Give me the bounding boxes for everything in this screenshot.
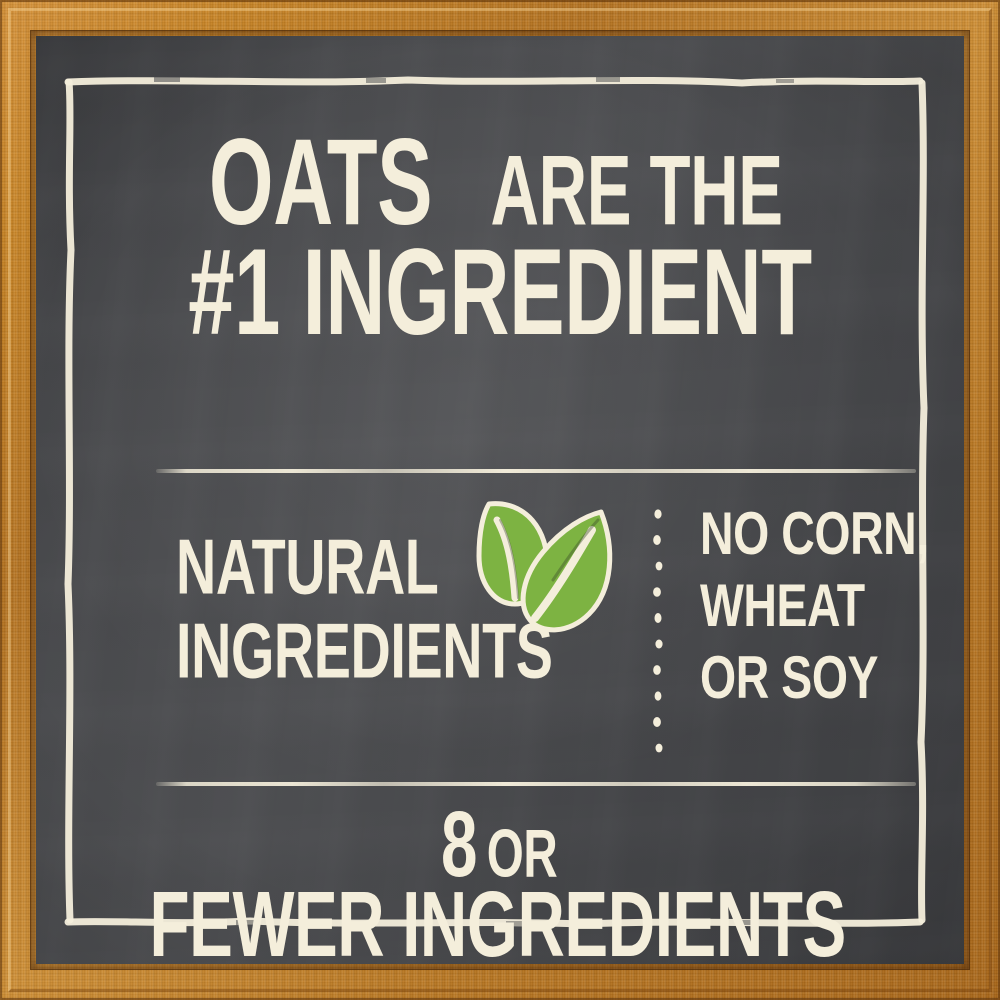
no-corn-line-2: WHEAT (700, 576, 929, 636)
two-leaves-icon (473, 494, 638, 644)
poster-content: OATSARE THE #1 INGREDIENT NATURAL INGRED… (36, 36, 964, 964)
no-corn-line-1: NO CORN, (700, 504, 929, 564)
dotted-vertical-divider (651, 506, 665, 756)
divider-line-top (156, 469, 916, 473)
no-corn-line-3: OR SOY (700, 648, 929, 708)
divider-line-bottom (156, 782, 916, 786)
headline-line-2: #1 INGREDIENT (129, 231, 871, 354)
headline-block: OATSARE THE #1 INGREDIENT (36, 140, 964, 354)
chalkboard-surface: OATSARE THE #1 INGREDIENT NATURAL INGRED… (36, 36, 964, 964)
fewer-ingredients-block: 8ORFEWER INGREDIENTS (36, 811, 964, 964)
no-corn-wheat-soy-block: NO CORN, WHEAT OR SOY (700, 510, 964, 708)
fewer-ingredients-text: FEWER INGREDIENTS (150, 878, 846, 964)
chalkboard-poster: OATSARE THE #1 INGREDIENT NATURAL INGRED… (0, 0, 1000, 1000)
middle-row: NATURAL INGREDIENTS (36, 486, 964, 776)
